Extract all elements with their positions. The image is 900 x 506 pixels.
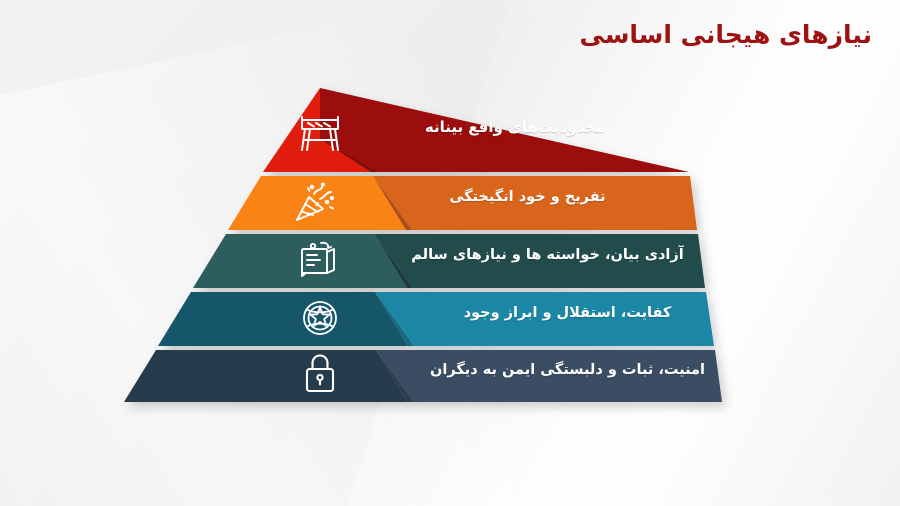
globe-star-icon	[299, 297, 341, 339]
tier-5-label: امنیت، ثبات و دلبستگی ایمن به دیگران	[420, 362, 715, 378]
tier-5-left-face	[124, 350, 408, 402]
slide-canvas: نیازهای هیجانی اساسی	[0, 0, 900, 506]
barricade-icon	[296, 110, 344, 154]
tier-2-label: تفریح و خود انگیختگی	[420, 189, 635, 205]
tier-1-label: محدودیت‌های واقع بینانه	[400, 118, 630, 136]
tier-4-left-face	[158, 292, 408, 346]
tier-4-label: کفایت، استقلال و ابراز وجود	[440, 305, 695, 321]
tier-3-label: آزادی بیان، خواسته ها و نیازهای سالم	[405, 247, 690, 263]
padlock-icon	[300, 350, 340, 396]
speech-book-icon	[297, 240, 339, 280]
party-popper-icon	[292, 182, 338, 224]
